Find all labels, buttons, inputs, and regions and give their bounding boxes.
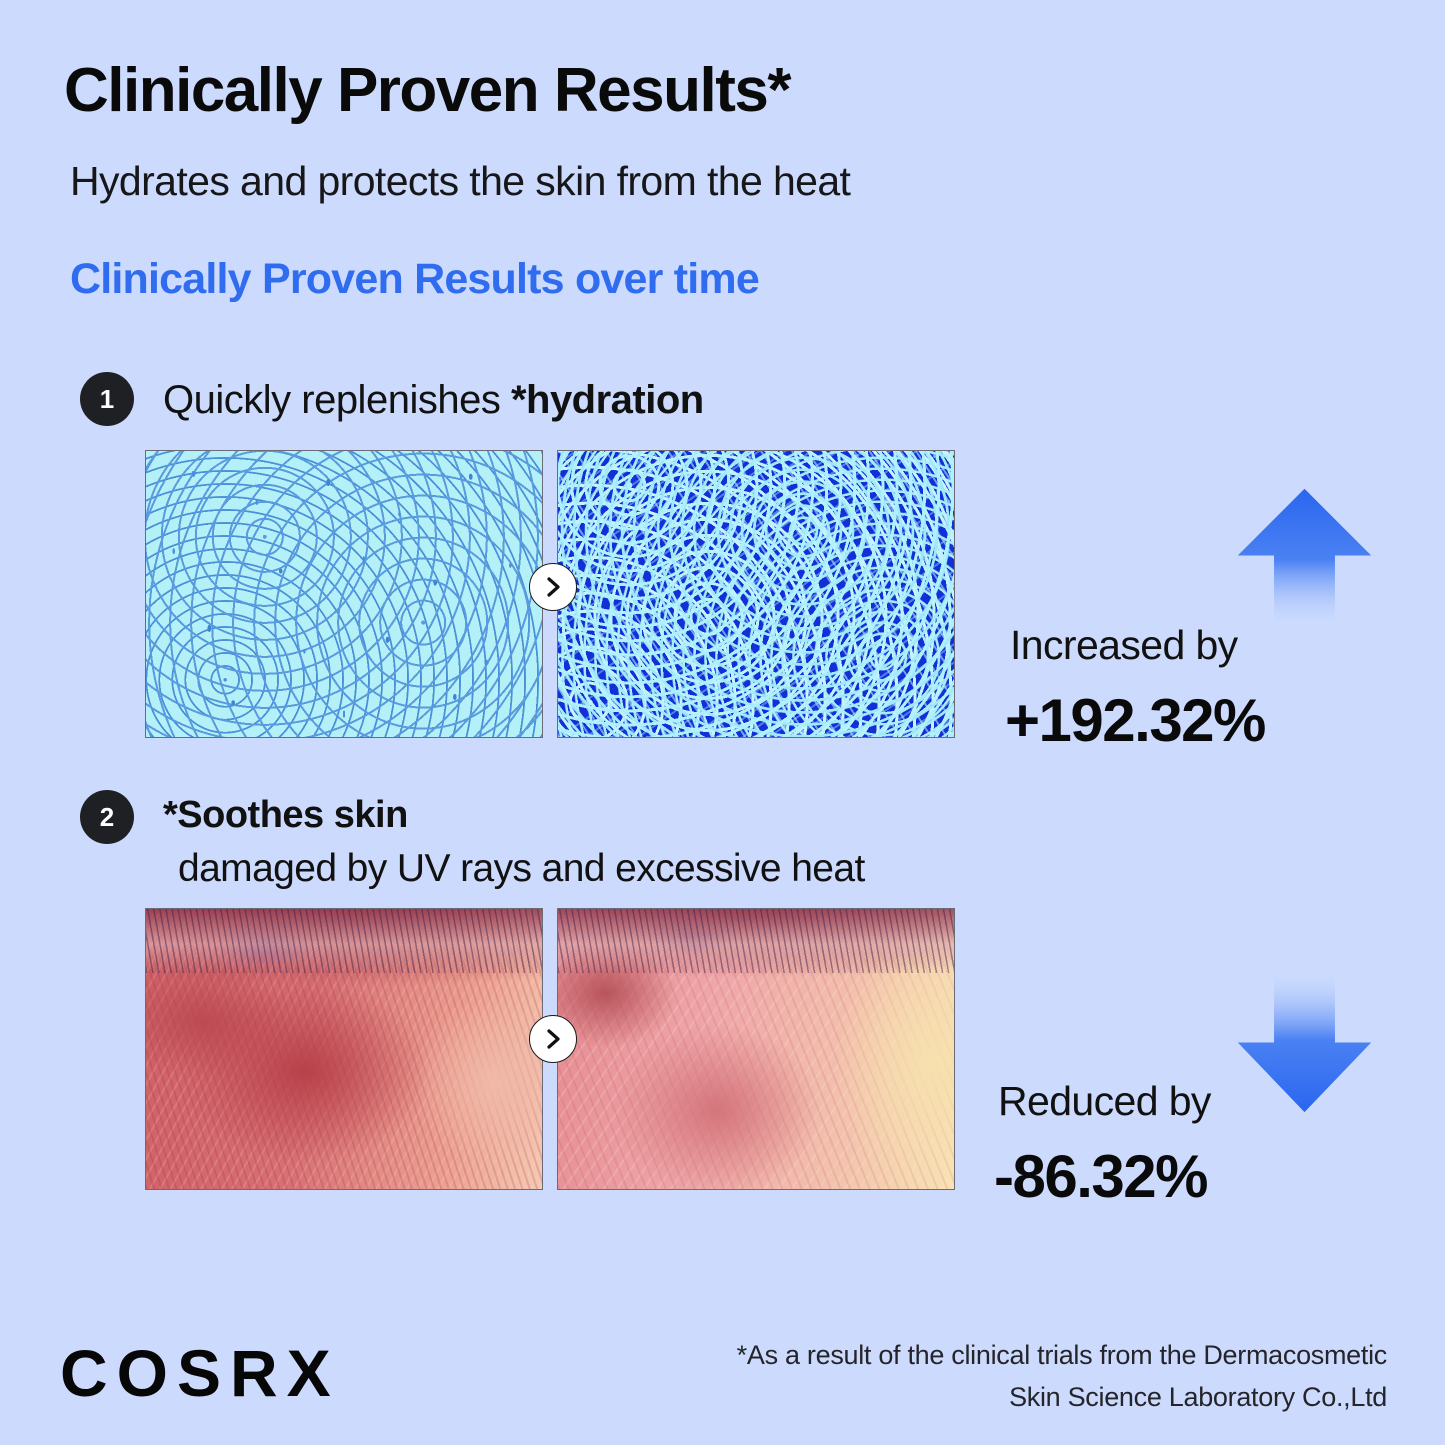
soothing-after-image bbox=[557, 908, 955, 1190]
eyelash-detail bbox=[558, 909, 954, 973]
soothing-result-label: Reduced by bbox=[998, 1078, 1211, 1125]
dry-skin-texture bbox=[146, 451, 542, 737]
section-heading: Clinically Proven Results over time bbox=[70, 255, 759, 304]
eyelash-detail bbox=[146, 909, 542, 973]
cosrx-logo: COSRX bbox=[60, 1335, 340, 1411]
arrow-up-icon bbox=[1232, 483, 1377, 628]
chevron-right-icon[interactable] bbox=[529, 563, 577, 611]
step-badge-1: 1 bbox=[80, 372, 134, 426]
footnote: *As a result of the clinical trials from… bbox=[737, 1334, 1387, 1418]
step-badge-2: 2 bbox=[80, 790, 134, 844]
hydration-after-image bbox=[557, 450, 955, 738]
step-2-title: *Soothes skin bbox=[163, 794, 408, 837]
hydrated-skin-texture bbox=[558, 451, 954, 737]
arrow-down-icon bbox=[1232, 970, 1377, 1115]
page-title: Clinically Proven Results* bbox=[64, 58, 790, 123]
hydration-result-value: +192.32% bbox=[1005, 686, 1265, 755]
page-subtitle: Hydrates and protects the skin from the … bbox=[70, 158, 850, 205]
footnote-line-2: Skin Science Laboratory Co.,Ltd bbox=[737, 1376, 1387, 1418]
step-1-description: Quickly replenishes *hydration bbox=[163, 375, 704, 425]
soothing-result-value: -86.32% bbox=[994, 1142, 1207, 1211]
soothing-before-image bbox=[145, 908, 543, 1190]
chevron-right-icon[interactable] bbox=[529, 1015, 577, 1063]
step-1-text-bold: *hydration bbox=[511, 378, 704, 422]
hydration-result-label: Increased by bbox=[1010, 622, 1238, 669]
red-irritated-skin-texture bbox=[146, 909, 542, 1189]
step-1-text-plain: Quickly replenishes bbox=[163, 378, 511, 422]
hydration-before-image bbox=[145, 450, 543, 738]
step-2-description: damaged by UV rays and excessive heat bbox=[178, 847, 865, 891]
footnote-line-1: *As a result of the clinical trials from… bbox=[737, 1334, 1387, 1376]
calm-skin-texture bbox=[558, 909, 954, 1189]
